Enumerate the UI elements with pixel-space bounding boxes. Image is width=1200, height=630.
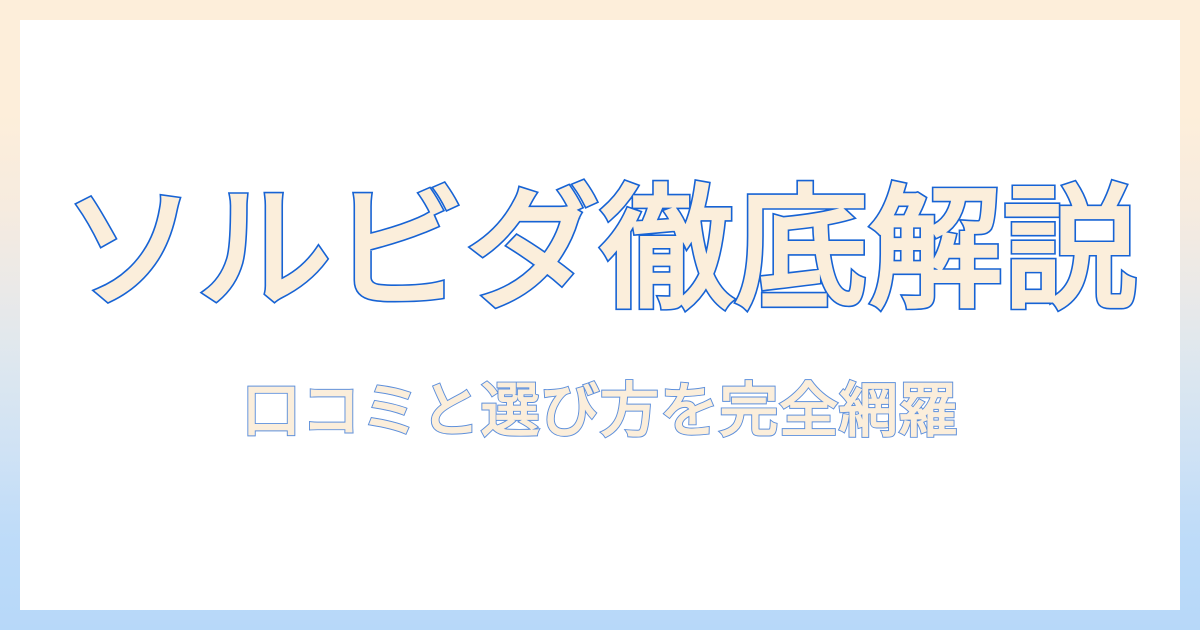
page-subtitle: 口コミと選び方を完全網羅 <box>20 379 1180 444</box>
gradient-frame: ソルビダ徹底解説 口コミと選び方を完全網羅 <box>0 0 1200 630</box>
content-card: ソルビダ徹底解説 口コミと選び方を完全網羅 <box>20 20 1180 610</box>
page-title: ソルビダ徹底解説 <box>20 179 1180 321</box>
text-block: ソルビダ徹底解説 口コミと選び方を完全網羅 <box>20 179 1180 444</box>
